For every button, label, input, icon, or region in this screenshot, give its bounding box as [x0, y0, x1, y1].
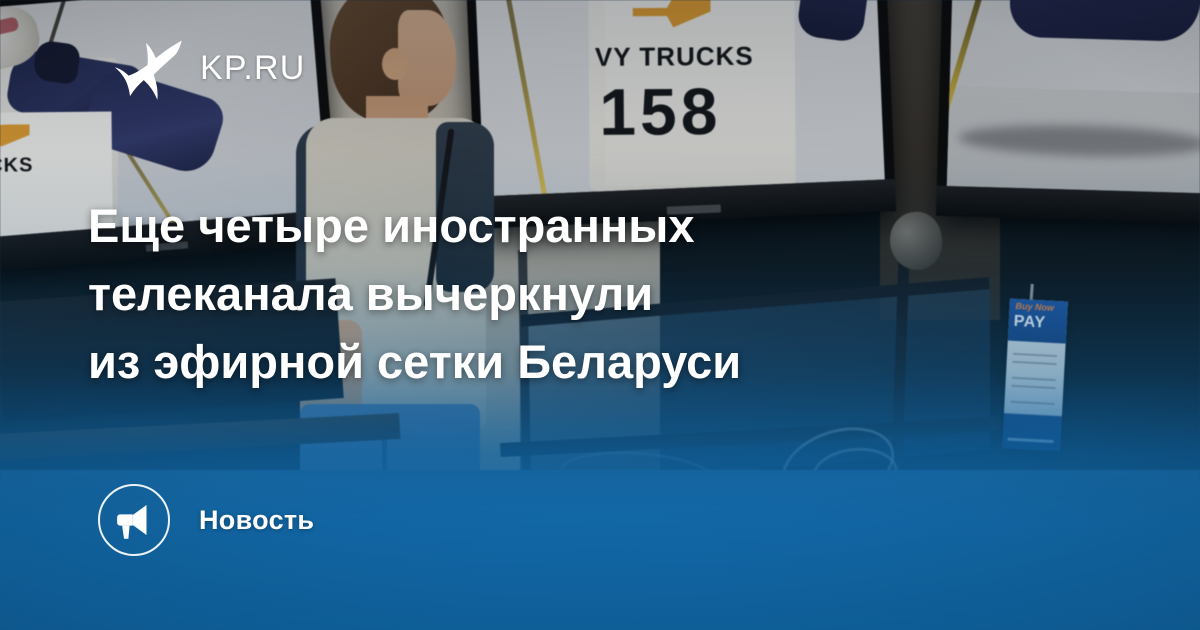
- price-tag-header: Buy Now PAY: [1008, 299, 1068, 344]
- price-tag-footer: [1008, 438, 1054, 443]
- megaphone-icon: [114, 500, 154, 540]
- news-badge-label: Новость: [199, 505, 314, 536]
- tv-right: [936, 0, 1200, 224]
- skier-arm: [1009, 0, 1200, 42]
- chevrolet-logo-icon: [633, 0, 711, 28]
- price-tag-line1: Buy Now: [1015, 301, 1054, 313]
- skier-glove: [796, 0, 874, 43]
- kp-logo-text: KP.RU: [200, 51, 306, 85]
- tv-center-screen: VY TRUCKS 158: [473, 0, 885, 196]
- tv-right-screen: [947, 0, 1200, 194]
- skier-glove: [32, 40, 81, 85]
- headline-line-2: телеканала вычеркнули: [88, 260, 968, 328]
- skier-race-bib: VY TRUCKS 158: [604, 0, 796, 186]
- badge-circle: [98, 484, 170, 556]
- bib-number-text: 58: [0, 183, 4, 238]
- store-price-tag: Buy Now PAY: [1002, 299, 1068, 452]
- headline-line-1: Еще четыре иностранных: [88, 192, 968, 260]
- share-card: TRUCKS 58 VY TRUCKS: [0, 0, 1200, 630]
- headline: Еще четыре иностранных телеканала вычерк…: [88, 192, 968, 396]
- kp-logo[interactable]: KP.RU: [108, 30, 306, 106]
- price-tag-line2: PAY: [1013, 313, 1046, 333]
- swallow-bird-icon: [108, 30, 184, 106]
- chevrolet-logo-icon: [0, 124, 30, 147]
- bib-number-text: 158: [599, 73, 722, 150]
- boy-ear: [382, 48, 408, 80]
- news-badge[interactable]: Новость: [98, 484, 314, 556]
- bib-brand-text: TRUCKS: [0, 154, 34, 178]
- headline-line-3: из эфирной сетки Беларуси: [88, 328, 968, 396]
- bib-brand-text: VY TRUCKS: [595, 41, 754, 73]
